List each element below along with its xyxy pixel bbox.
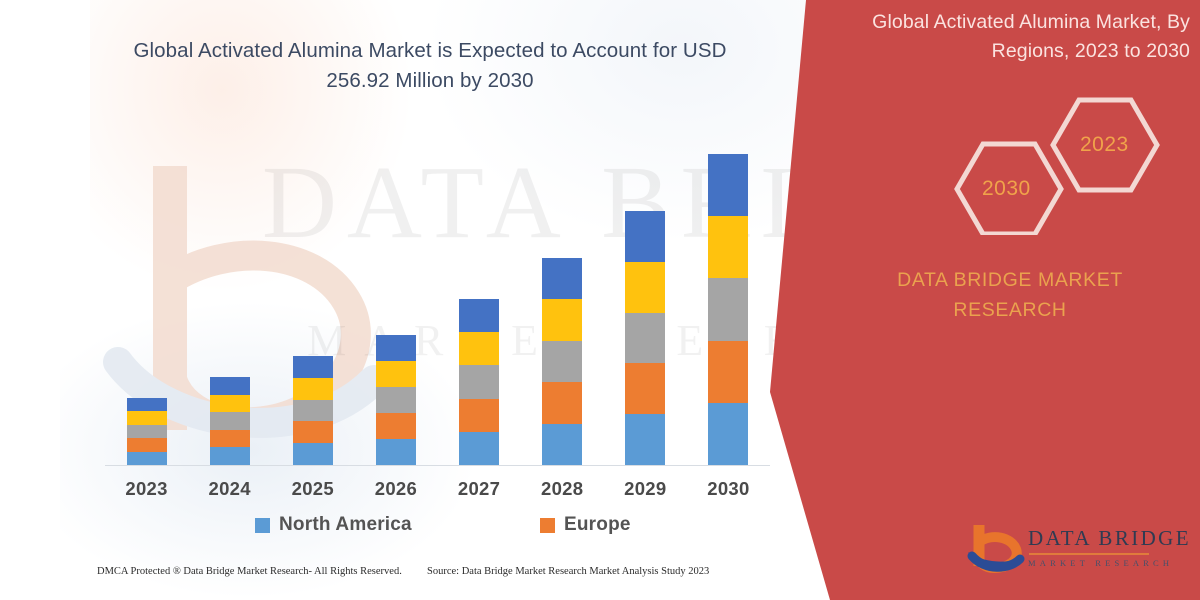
bar-segment (459, 332, 499, 365)
bar-segment (542, 299, 582, 340)
bar-segment (542, 424, 582, 465)
bar-column-2026 (376, 335, 416, 465)
bar-segment (625, 262, 665, 313)
bar-segment (293, 400, 333, 422)
bar-segment (625, 211, 665, 262)
x-axis-label-2025: 2025 (273, 478, 353, 500)
bar-segment (542, 341, 582, 382)
bar-segment (459, 299, 499, 332)
bar-segment (210, 395, 250, 413)
company-logo: DATA BRIDGE MARKET RESEARCH (965, 520, 1180, 582)
bar-column-2025 (293, 356, 333, 465)
logo-text: DATA BRIDGE MARKET RESEARCH (1028, 528, 1191, 568)
legend-label: Europe (564, 514, 631, 536)
chart-baseline (105, 465, 770, 466)
bar-segment (376, 439, 416, 465)
bar-segment (210, 412, 250, 430)
legend-label: North America (279, 514, 412, 536)
legend-swatch-icon (540, 518, 555, 533)
x-axis-label-2029: 2029 (605, 478, 685, 500)
bar-segment (210, 430, 250, 448)
bar-segment (459, 365, 499, 398)
footer: DMCA Protected ® Data Bridge Market Rese… (0, 566, 800, 588)
brand-name: DATA BRIDGE MARKET RESEARCH (840, 265, 1180, 325)
bar-segment (708, 341, 748, 403)
bar-segment (127, 438, 167, 451)
stacked-bar-chart: 20232024202520262027202820292030 North A… (0, 0, 800, 600)
bar-segment (625, 313, 665, 364)
chart-legend: North AmericaEurope (105, 512, 770, 542)
bar-segment (459, 399, 499, 432)
chart-x-axis-labels: 20232024202520262027202820292030 (105, 478, 770, 504)
bar-segment (293, 443, 333, 465)
logo-subtitle: MARKET RESEARCH (1028, 558, 1191, 568)
x-axis-label-2028: 2028 (522, 478, 602, 500)
bar-segment (708, 403, 748, 465)
x-axis-label-2023: 2023 (107, 478, 187, 500)
bar-column-2029 (625, 211, 665, 465)
logo-b-mark-icon (965, 520, 1027, 578)
x-axis-label-2027: 2027 (439, 478, 519, 500)
bar-column-2023 (127, 398, 167, 465)
bar-segment (127, 452, 167, 465)
bar-segment (210, 447, 250, 465)
legend-swatch-icon (255, 518, 270, 533)
bar-segment (459, 432, 499, 465)
bar-segment (210, 377, 250, 395)
red-panel-content: Global Activated Alumina Market, By Regi… (840, 0, 1200, 600)
footer-source: Source: Data Bridge Market Research Mark… (427, 566, 709, 577)
legend-item-north-america[interactable]: North America (255, 514, 412, 536)
hexagon-label-2030: 2030 (982, 177, 1031, 201)
hexagon-shapes-icon (910, 95, 1160, 235)
bar-segment (542, 258, 582, 299)
infographic-canvas: DATA BRIDGE MARKET RESEARCH Global Activ… (0, 0, 1200, 600)
brand-line2: RESEARCH (840, 295, 1180, 325)
bar-segment (127, 411, 167, 424)
bar-segment (376, 335, 416, 361)
chart-subtitle: Global Activated Alumina Market, By Regi… (840, 8, 1190, 67)
bar-segment (293, 356, 333, 378)
bar-segment (625, 363, 665, 414)
hexagon-label-2023: 2023 (1080, 133, 1129, 157)
footer-dmca: DMCA Protected ® Data Bridge Market Rese… (97, 566, 402, 577)
x-axis-label-2026: 2026 (356, 478, 436, 500)
logo-divider (1029, 553, 1149, 555)
bar-column-2024 (210, 377, 250, 465)
bar-segment (376, 361, 416, 387)
bar-segment (542, 382, 582, 423)
hexagon-badges: 2023 2030 (910, 95, 1160, 235)
logo-title: DATA BRIDGE (1028, 528, 1191, 549)
bar-segment (376, 387, 416, 413)
bar-segment (376, 413, 416, 439)
bar-segment (293, 421, 333, 443)
bar-column-2030 (708, 154, 748, 465)
bar-segment (708, 154, 748, 216)
bar-segment (708, 216, 748, 278)
bar-column-2027 (459, 299, 499, 465)
brand-line1: DATA BRIDGE MARKET (840, 265, 1180, 295)
bar-segment (625, 414, 665, 465)
bar-segment (127, 425, 167, 438)
x-axis-label-2024: 2024 (190, 478, 270, 500)
bar-column-2028 (542, 258, 582, 465)
bar-segment (127, 398, 167, 411)
x-axis-label-2030: 2030 (688, 478, 768, 500)
legend-item-europe[interactable]: Europe (540, 514, 631, 536)
bar-segment (293, 378, 333, 400)
chart-bars (105, 100, 770, 465)
bar-segment (708, 278, 748, 340)
